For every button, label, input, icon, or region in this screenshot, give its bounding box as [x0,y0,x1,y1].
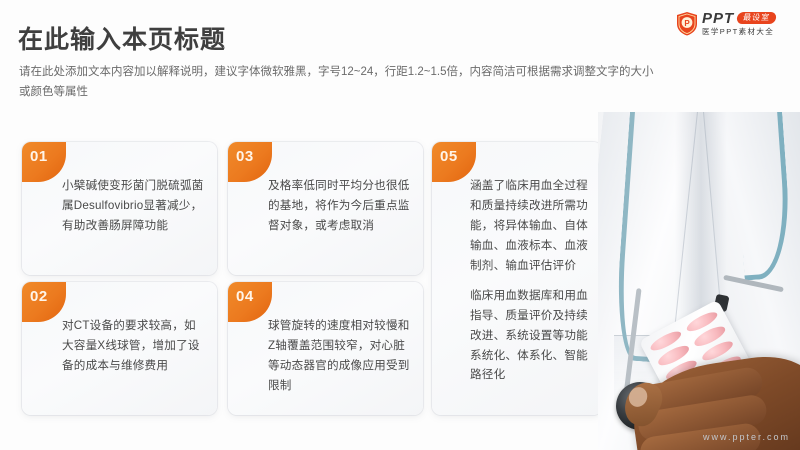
content-card[interactable]: 01 小檗碱使变形菌门脱硫弧菌属Desulfovibrio显著减少，有助改善肠屏… [22,142,217,275]
stethoscope-tube-right [732,112,795,281]
card-paragraph: 球管旋转的速度相对较慢和Z轴覆盖范围较窄，对心脏等动态器官的成像应用受到限制 [268,316,411,396]
card-text-block: 及格率低同时平均分也很低的基地，将作为今后重点监督对象，或考虑取消 [268,176,411,236]
stethoscope-tube-left [613,112,669,361]
card-number-badge: 01 [22,142,66,182]
card-paragraph: 小檗碱使变形菌门脱硫弧菌属Desulfovibrio显著减少，有助改善肠屏障功能 [62,176,205,236]
card-text-block: 对CT设备的要求较高，如大容量X线球管，增加了设备的成本与维修费用 [62,316,205,376]
card-paragraph: 及格率低同时平均分也很低的基地，将作为今后重点监督对象，或考虑取消 [268,176,411,236]
slide-canvas: P PPT 最设室 医学PPT素材大全 在此输入本页标题 请在此处添加文本内容加… [0,0,800,450]
card-number-badge: 04 [228,282,272,322]
content-card[interactable]: 02 对CT设备的要求较高，如大容量X线球管，增加了设备的成本与维修费用 [22,282,217,415]
doctor-photo [598,112,800,450]
content-card[interactable]: 03 及格率低同时平均分也很低的基地，将作为今后重点监督对象，或考虑取消 [228,142,423,275]
content-card[interactable]: 05 涵盖了临床用血全过程和质量持续改进所需功能，将异体输血、自体输血、血液标本… [432,142,602,415]
card-text-block: 涵盖了临床用血全过程和质量持续改进所需功能，将异体输血、自体输血、血液标本、血液… [470,176,594,385]
card-paragraph: 临床用血数据库和用血指导、质量评价及持续改进、系统设置等功能系统化、体系化、智能… [470,286,594,386]
card-text-block: 球管旋转的速度相对较慢和Z轴覆盖范围较窄，对心脏等动态器官的成像应用受到限制 [268,316,411,396]
card-text-block: 小檗碱使变形菌门脱硫弧菌属Desulfovibrio显著减少，有助改善肠屏障功能 [62,176,205,236]
card-paragraph: 对CT设备的要求较高，如大容量X线球管，增加了设备的成本与维修费用 [62,316,205,376]
content-card[interactable]: 04 球管旋转的速度相对较慢和Z轴覆盖范围较窄，对心脏等动态器官的成像应用受到限… [228,282,423,415]
card-number-badge: 02 [22,282,66,322]
card-number-badge: 03 [228,142,272,182]
card-paragraph: 涵盖了临床用血全过程和质量持续改进所需功能，将异体输血、自体输血、血液标本、血液… [470,176,594,276]
watermark: www.ppter.com [703,432,790,442]
